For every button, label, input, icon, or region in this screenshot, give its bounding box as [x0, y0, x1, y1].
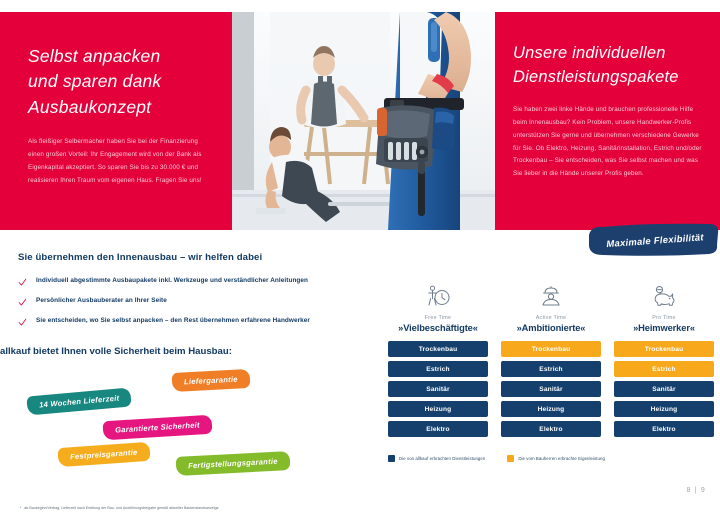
- package-name: »Vielbeschäftigte«: [388, 323, 488, 333]
- hero-banner-row: Selbst anpacken und sparen dank Ausbauko…: [0, 12, 720, 230]
- hero-left-panel: Selbst anpacken und sparen dank Ausbauko…: [0, 12, 232, 230]
- check-icon: [18, 318, 27, 327]
- package-column-pro-time: Pro Time »Heimwerker« Trockenbau Estrich…: [614, 280, 714, 441]
- badge-fertigstellungsgarantie: Fertigstellungsgarantie: [176, 451, 291, 476]
- legend-item-eigenleistung: Die vom Bauherren erbrachte Eigenleistun…: [507, 455, 605, 462]
- package-row-elektro[interactable]: Elektro: [388, 421, 488, 437]
- package-eyebrow: Free Time: [388, 315, 488, 321]
- left-content-column: Sie übernehmen den Innenausbau – wir hel…: [0, 252, 372, 475]
- hero-photo: [232, 12, 495, 230]
- hero-right-title-line2: Dienstleistungspakete: [513, 66, 706, 90]
- package-row-trockenbau[interactable]: Trockenbau: [501, 341, 601, 357]
- package-row-sanitaer[interactable]: Sanitär: [388, 381, 488, 397]
- package-rows: Trockenbau Estrich Sanitär Heizung Elekt…: [388, 341, 488, 437]
- package-eyebrow: Pro Time: [614, 315, 714, 321]
- packages-legend: Die von allkauf erbrachten Dienstleistun…: [388, 455, 605, 462]
- package-rows: Trockenbau Estrich Sanitär Heizung Elekt…: [614, 341, 714, 437]
- hero-left-title: Selbst anpacken und sparen dank Ausbauko…: [28, 44, 212, 120]
- badge-festpreisgarantie: Festpreisgarantie: [57, 441, 150, 466]
- legend-item-dienstleistungen: Die von allkauf erbrachten Dienstleistun…: [388, 455, 485, 462]
- hero-right-title-line1: Unsere individuellen: [513, 42, 706, 66]
- list-item-label: Individuell abgestimmte Ausbaupakete ink…: [36, 277, 308, 285]
- package-row-elektro[interactable]: Elektro: [614, 421, 714, 437]
- legend-swatch-amber-icon: [507, 455, 514, 462]
- hero-right-title: Unsere individuellen Dienstleistungspake…: [513, 42, 706, 90]
- maximale-flexibilitaet-banner: Maximale Flexibilität: [583, 222, 719, 258]
- list-item-label: Persönlicher Ausbauberater an Ihrer Seit…: [36, 297, 167, 305]
- service-packages: Free Time »Vielbeschäftigte« Trockenbau …: [388, 280, 714, 441]
- footnote: *ab Baubeginn/Vertrag, Lieferzeit nach E…: [20, 506, 219, 510]
- package-row-estrich[interactable]: Estrich: [388, 361, 488, 377]
- package-row-heizung[interactable]: Heizung: [614, 401, 714, 417]
- list-item: Individuell abgestimmte Ausbaupakete ink…: [18, 277, 372, 287]
- package-name: »Ambitionierte«: [501, 323, 601, 333]
- worker-helmet-icon: [501, 280, 601, 310]
- hero-right-body: Sie haben zwei linke Hände und brauchen …: [513, 104, 706, 181]
- package-row-heizung[interactable]: Heizung: [501, 401, 601, 417]
- hero-left-title-line2: und sparen dank: [28, 69, 212, 94]
- package-column-free-time: Free Time »Vielbeschäftigte« Trockenbau …: [388, 280, 488, 441]
- check-icon: [18, 298, 27, 307]
- package-column-active-time: Active Time »Ambitionierte« Trockenbau E…: [501, 280, 601, 441]
- badge-garantierte-sicherheit: Garantierte Sicherheit: [103, 414, 213, 440]
- badge-liefergarantie: Liefergarantie: [172, 368, 251, 391]
- list-item: Sie entscheiden, wo Sie selbst anpacken …: [18, 317, 372, 327]
- hero-left-title-line3: Ausbaukonzept: [28, 95, 212, 120]
- guarantee-badge-group: 14 Wochen Lieferzeit Liefergarantie Gara…: [0, 365, 372, 475]
- page-number: 8 | 9: [687, 487, 707, 494]
- legend-swatch-navy-icon: [388, 455, 395, 462]
- brochure-page: Selbst anpacken und sparen dank Ausbauko…: [0, 0, 720, 530]
- package-eyebrow: Active Time: [501, 315, 601, 321]
- benefits-check-list: Individuell abgestimmte Ausbaupakete ink…: [0, 277, 372, 327]
- legend-label: Die von allkauf erbrachten Dienstleistun…: [399, 456, 485, 461]
- package-row-trockenbau[interactable]: Trockenbau: [614, 341, 714, 357]
- footnote-marker: *: [20, 506, 21, 510]
- footnote-text: ab Baubeginn/Vertrag, Lieferzeit nach Er…: [24, 506, 218, 510]
- person-clock-icon: [388, 280, 488, 310]
- package-name: »Heimwerker«: [614, 323, 714, 333]
- hero-right-panel: Unsere individuellen Dienstleistungspake…: [495, 12, 720, 230]
- innenausbau-heading: Sie übernehmen den Innenausbau – wir hel…: [0, 252, 372, 263]
- package-row-elektro[interactable]: Elektro: [501, 421, 601, 437]
- piggy-bank-icon: [614, 280, 714, 310]
- list-item: Persönlicher Ausbauberater an Ihrer Seit…: [18, 297, 372, 307]
- hero-left-body: Als fleißiger Selbermacher haben Sie bei…: [28, 136, 208, 188]
- list-item-label: Sie entscheiden, wo Sie selbst anpacken …: [36, 317, 310, 325]
- package-rows: Trockenbau Estrich Sanitär Heizung Elekt…: [501, 341, 601, 437]
- package-row-estrich[interactable]: Estrich: [501, 361, 601, 377]
- check-icon: [18, 278, 27, 287]
- package-row-sanitaer[interactable]: Sanitär: [614, 381, 714, 397]
- legend-label: Die vom Bauherren erbrachte Eigenleistun…: [518, 456, 605, 461]
- package-row-trockenbau[interactable]: Trockenbau: [388, 341, 488, 357]
- sicherheit-heading: allkauf bietet Ihnen volle Sicherheit be…: [0, 346, 372, 357]
- badge-lieferzeit: 14 Wochen Lieferzeit: [26, 387, 132, 415]
- hero-left-title-line1: Selbst anpacken: [28, 44, 212, 69]
- package-row-heizung[interactable]: Heizung: [388, 401, 488, 417]
- package-row-sanitaer[interactable]: Sanitär: [501, 381, 601, 397]
- package-row-estrich[interactable]: Estrich: [614, 361, 714, 377]
